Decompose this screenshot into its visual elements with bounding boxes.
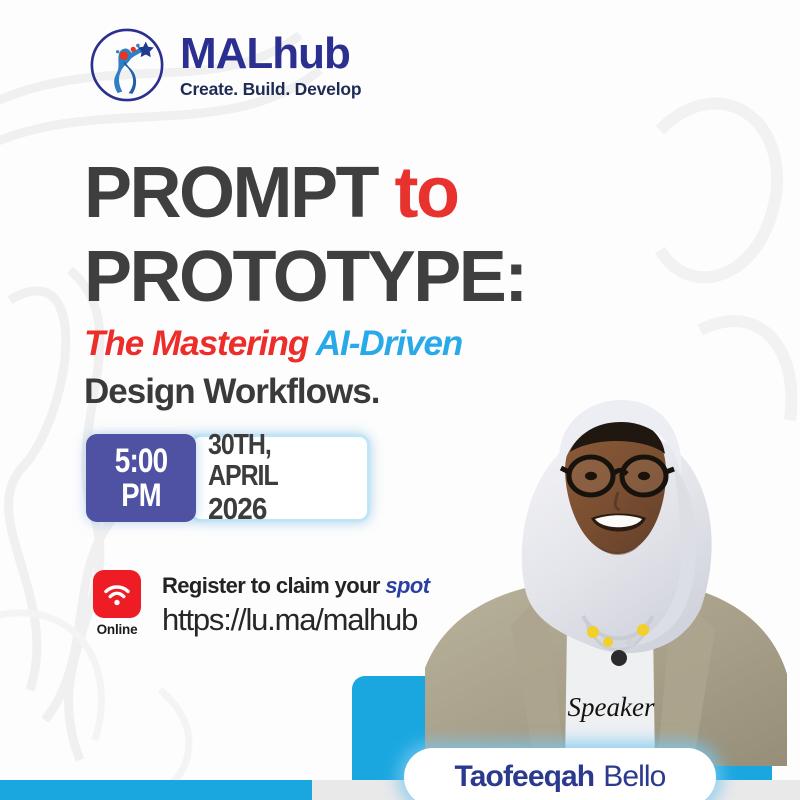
online-mode-badge: Online — [88, 570, 146, 637]
event-time-box: 5:00 PM — [86, 434, 196, 522]
brand-logo: MALhub Create. Build. Develop — [88, 26, 361, 104]
speaker-first-name: Taofeeqah — [455, 760, 595, 794]
event-date-year: 2026 — [208, 493, 351, 526]
subtitle-line-2: Design Workflows. — [84, 370, 462, 414]
registration-cta-prefix: Register to claim your — [162, 573, 380, 598]
subtitle-red-part: The Mastering — [84, 324, 308, 363]
event-time-meridiem: PM — [121, 479, 161, 511]
event-datetime: 5:00 PM 30TH, APRIL 2026 — [86, 434, 370, 522]
registration-block[interactable]: Online Register to claim your spot https… — [88, 570, 429, 638]
speaker-name-pill: Taofeeqah Bello — [404, 748, 716, 800]
brand-tagline: Create. Build. Develop — [180, 81, 361, 99]
headline-accent: to — [395, 153, 458, 233]
headline-main: PROMPT — [84, 153, 377, 233]
brand-name: MALhub — [180, 32, 361, 76]
event-date-box: 30TH, APRIL 2026 — [190, 434, 370, 522]
registration-text: Register to claim your spot https://lu.m… — [162, 570, 429, 638]
online-label: Online — [97, 622, 138, 637]
speaker-last-name: Bello — [603, 760, 665, 794]
event-time-value: 5:00 — [115, 445, 168, 477]
bottom-accent-bar-blue — [0, 780, 312, 800]
subtitle-line-1: The Mastering AI-Driven — [84, 322, 462, 366]
headline-line-1: PROMPT to — [84, 152, 526, 236]
registration-cta-emphasis: spot — [385, 573, 429, 598]
page-title: PROMPT to PROTOTYPE: — [84, 152, 526, 319]
wifi-icon — [93, 570, 141, 618]
subtitle-blue-part: AI-Driven — [316, 324, 463, 363]
speaker-script-label: Speaker — [568, 692, 655, 722]
malhub-figure-star-icon — [88, 26, 166, 104]
event-date-day-month: 30TH, APRIL — [208, 430, 345, 491]
headline-line-2: PROTOTYPE: — [84, 236, 526, 320]
registration-url[interactable]: https://lu.ma/malhub — [162, 601, 429, 638]
subtitle: The Mastering AI-Driven Design Workflows… — [84, 322, 462, 414]
event-flyer: MALhub Create. Build. Develop PROMPT to … — [0, 0, 800, 800]
registration-cta: Register to claim your spot — [162, 573, 429, 599]
speaker-photo: Speaker — [415, 296, 800, 766]
